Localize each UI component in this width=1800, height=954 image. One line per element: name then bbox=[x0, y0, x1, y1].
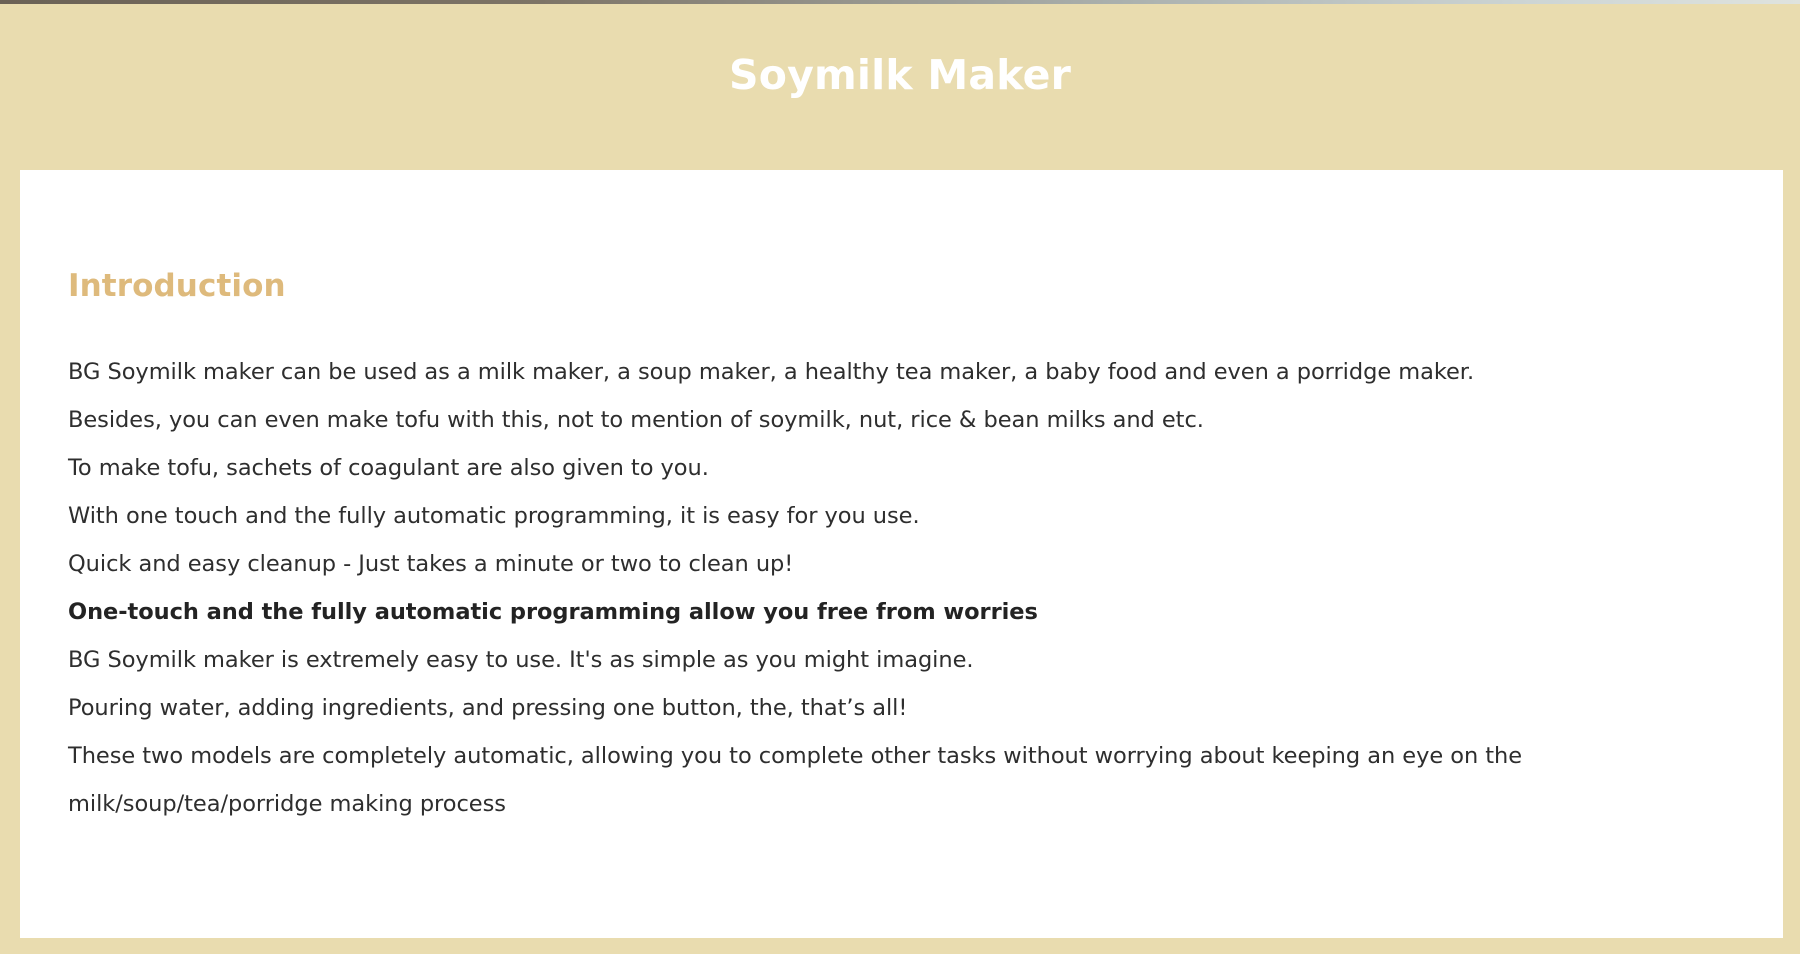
introduction-body: BG Soymilk maker can be used as a milk m… bbox=[68, 348, 1748, 828]
page-header-banner: Soymilk Maker bbox=[0, 4, 1800, 170]
page-title: Soymilk Maker bbox=[729, 51, 1071, 99]
body-paragraph: Besides, you can even make tofu with thi… bbox=[68, 396, 1748, 444]
body-paragraph: With one touch and the fully automatic p… bbox=[68, 492, 1748, 540]
body-paragraph: These two models are completely automati… bbox=[68, 732, 1748, 828]
section-heading-introduction: Introduction bbox=[68, 268, 286, 304]
body-paragraph: To make tofu, sachets of coagulant are a… bbox=[68, 444, 1748, 492]
body-paragraph: BG Soymilk maker can be used as a milk m… bbox=[68, 348, 1748, 396]
body-paragraph: Pouring water, adding ingredients, and p… bbox=[68, 684, 1748, 732]
body-paragraph: Quick and easy cleanup - Just takes a mi… bbox=[68, 540, 1748, 588]
content-card: Introduction BG Soymilk maker can be use… bbox=[20, 170, 1783, 938]
body-paragraph: One-touch and the fully automatic progra… bbox=[68, 588, 1748, 636]
body-paragraph: BG Soymilk maker is extremely easy to us… bbox=[68, 636, 1748, 684]
